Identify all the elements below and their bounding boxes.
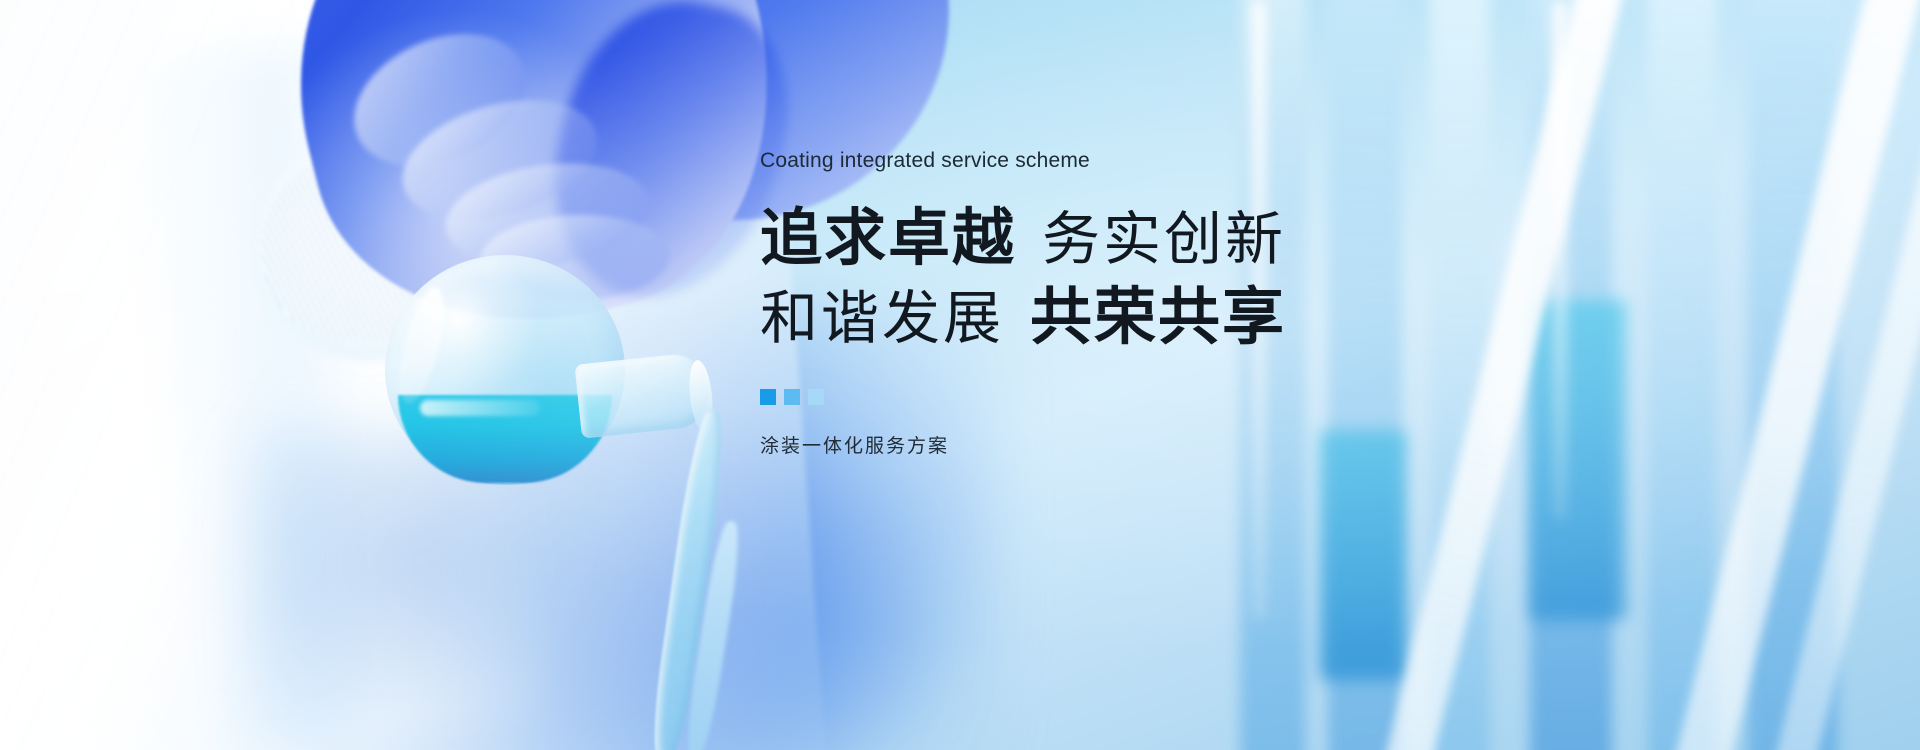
headline-line-1-light: 务实创新: [1042, 205, 1286, 273]
flask-liquid-highlight: [420, 400, 540, 416]
square-marker-1: [760, 389, 776, 405]
hero-banner: Coating integrated service scheme 追求卓越务实…: [0, 0, 1920, 750]
banner-eyebrow: Coating integrated service scheme: [760, 150, 1400, 171]
tube-liquid: [1530, 300, 1626, 620]
headline-line-1: 追求卓越务实创新: [760, 201, 1400, 274]
decorative-squares: [760, 389, 1400, 405]
headline-line-2-light: 和谐发展: [760, 284, 1004, 352]
text-block: Coating integrated service scheme 追求卓越务实…: [760, 150, 1400, 458]
headline-line-1-bold: 追求卓越: [760, 201, 1016, 274]
headline-line-2: 和谐发展共荣共享: [760, 280, 1400, 353]
banner-caption: 涂装一体化服务方案: [760, 431, 1400, 458]
square-marker-3: [808, 389, 824, 405]
banner-headline: 追求卓越务实创新 和谐发展共荣共享: [760, 201, 1400, 353]
square-marker-2: [784, 389, 800, 405]
headline-line-2-bold: 共荣共享: [1030, 280, 1286, 353]
tube-liquid: [1320, 430, 1406, 680]
